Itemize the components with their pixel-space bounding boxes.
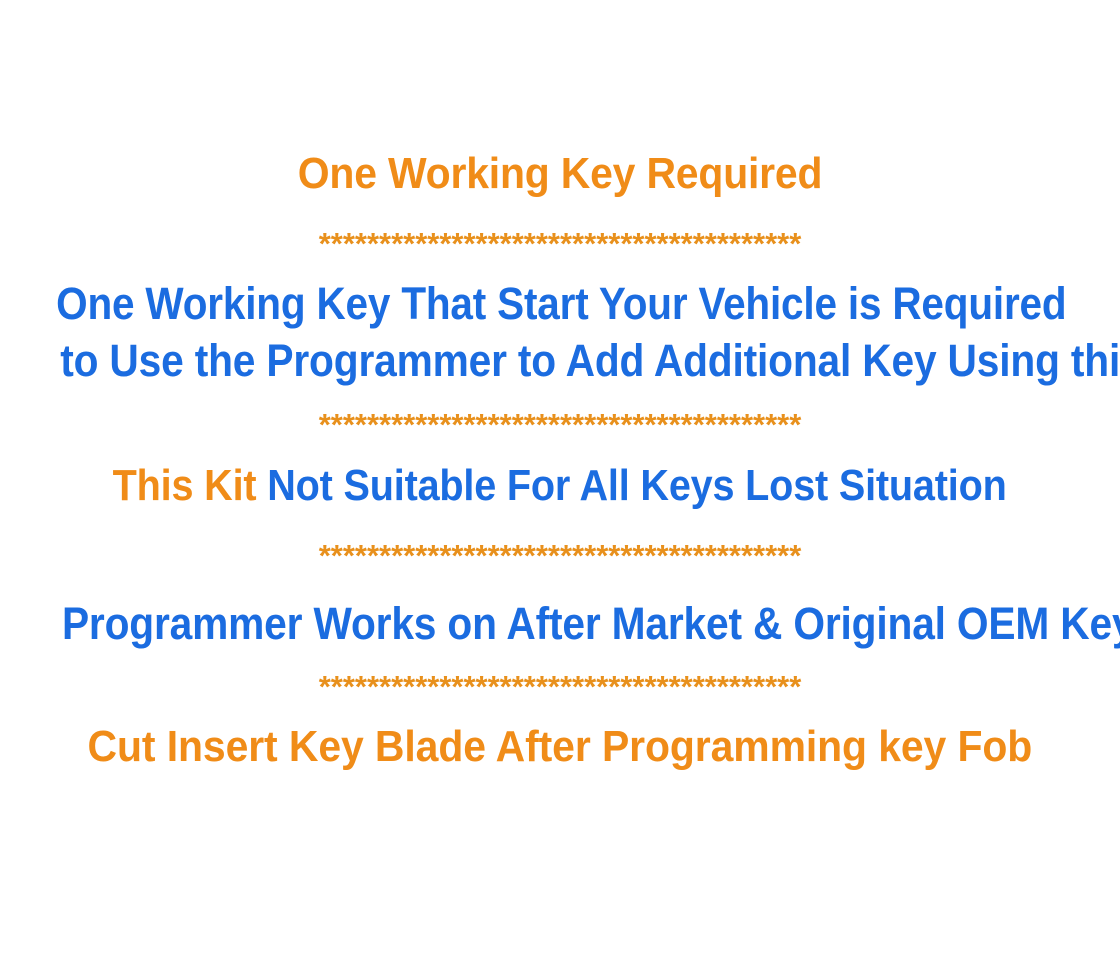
line-not-suitable-rest: Not Suitable For All Keys Lost Situation bbox=[257, 461, 1007, 510]
line-not-suitable-prefix: This Kit bbox=[113, 461, 257, 510]
separator-asterisks-2-text: **************************************** bbox=[319, 409, 802, 440]
line-programmer-use: to Use the Programmer to Add Additional … bbox=[0, 338, 1120, 383]
line-not-suitable: This Kit Not Suitable For All Keys Lost … bbox=[0, 464, 1120, 508]
line-after-market: Programmer Works on After Market & Origi… bbox=[0, 601, 1120, 646]
poster-headline: One Working Key Required bbox=[0, 152, 1120, 196]
separator-asterisks-4: **************************************** bbox=[0, 671, 1120, 702]
line-cut-blade-text: Cut Insert Key Blade After Programming k… bbox=[88, 725, 1033, 769]
separator-asterisks-3-text: **************************************** bbox=[319, 540, 802, 571]
separator-asterisks-3: **************************************** bbox=[0, 540, 1120, 571]
line-vehicle-required: One Working Key That Start Your Vehicle … bbox=[0, 281, 1120, 326]
separator-asterisks-4-text: **************************************** bbox=[319, 671, 802, 702]
line-after-market-text: Programmer Works on After Market & Origi… bbox=[62, 601, 1120, 646]
line-not-suitable-inner: This Kit Not Suitable For All Keys Lost … bbox=[113, 464, 1007, 508]
separator-asterisks-1-text: **************************************** bbox=[319, 228, 802, 259]
separator-asterisks-1: **************************************** bbox=[0, 228, 1120, 259]
poster-headline-text: One Working Key Required bbox=[298, 152, 823, 196]
line-programmer-use-text: to Use the Programmer to Add Additional … bbox=[60, 338, 1120, 383]
key-programming-info-poster: One Working Key Required ***************… bbox=[0, 0, 1120, 956]
line-vehicle-required-text: One Working Key That Start Your Vehicle … bbox=[56, 281, 1066, 326]
line-cut-blade: Cut Insert Key Blade After Programming k… bbox=[0, 725, 1120, 769]
separator-asterisks-2: **************************************** bbox=[0, 409, 1120, 440]
